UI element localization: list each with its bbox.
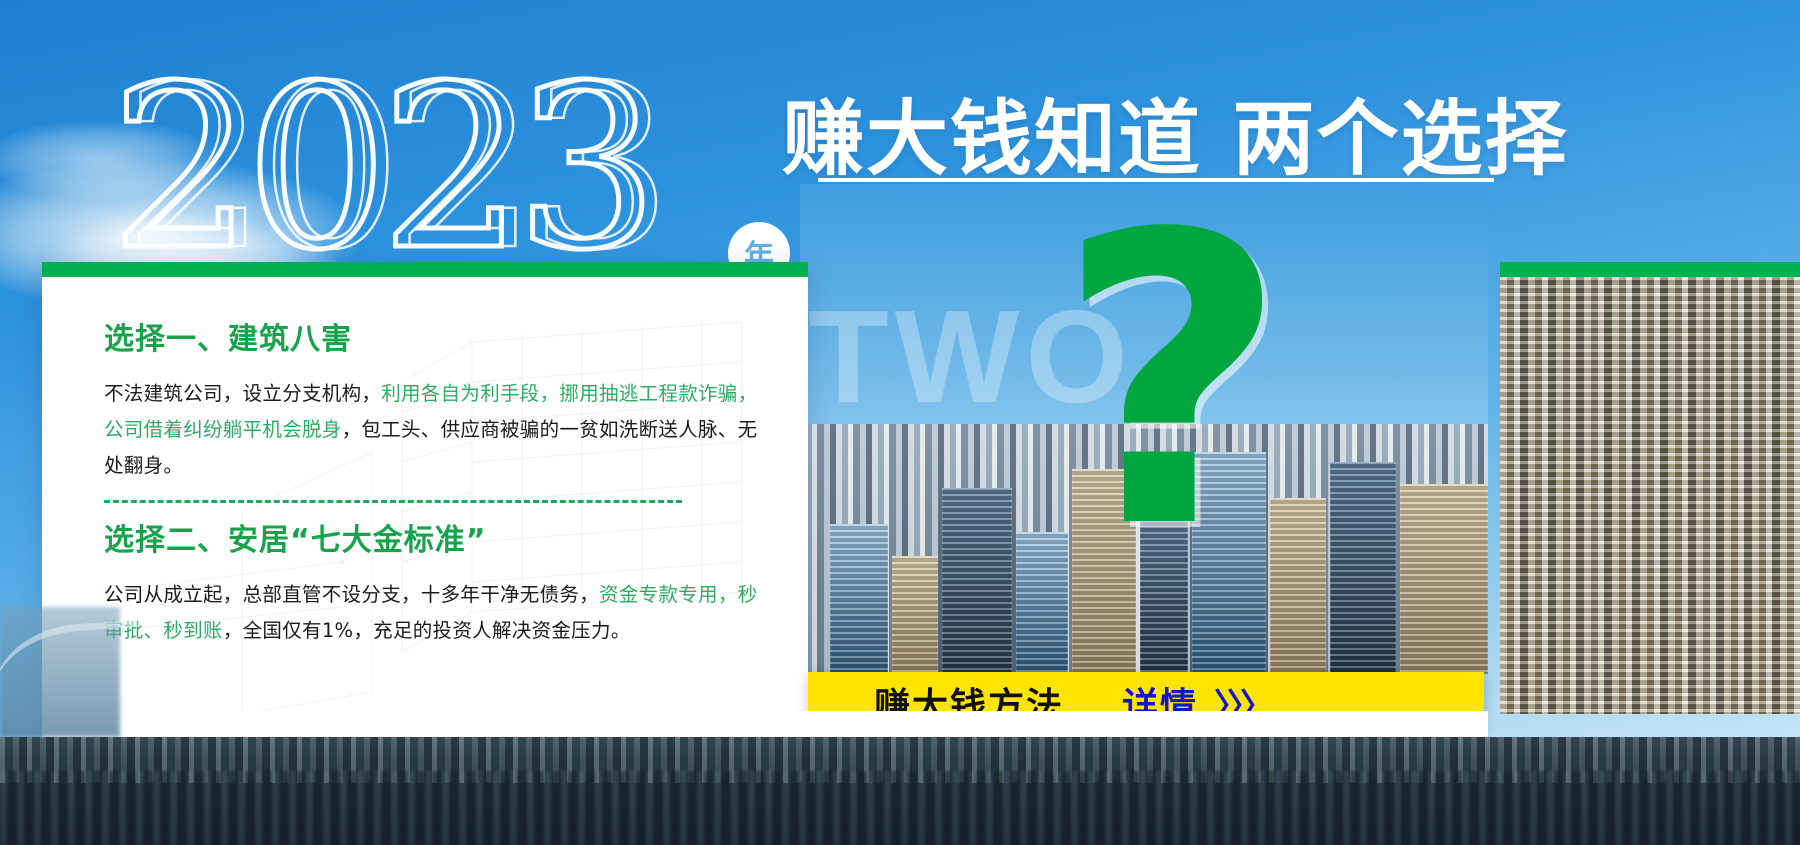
card-base-strip bbox=[42, 711, 1488, 737]
green-accent-bar bbox=[1500, 262, 1800, 277]
section-two-body: 公司从成立起，总部直管不设分支，十多年干净无债务，资金专款专用，秒审批、秒到账，… bbox=[104, 577, 776, 649]
year-text: 2023 bbox=[110, 62, 730, 277]
section-one-title: 选择一、建筑八害 bbox=[104, 314, 750, 358]
headline-underline bbox=[818, 178, 1494, 182]
section-two-text-a: 公司从成立起，总部直管不设分支，十多年干净无债务， bbox=[104, 583, 599, 606]
choice-illustration-panel: TWO CHOOSE ? bbox=[800, 184, 1488, 674]
promo-banner: 2023 2023 年 赚大钱知道 两个选择 TWO CHOOSE ? bbox=[0, 0, 1800, 845]
section-one-body: 不法建筑公司，设立分支机构，利用各自为利手段，挪用抽逃工程款诈骗，公司借着纠纷躺… bbox=[104, 376, 776, 484]
bottom-city-strip bbox=[0, 737, 1800, 845]
year-graphic: 2023 2023 bbox=[110, 62, 730, 282]
section-two-text-c: ，全国仅有1%，充足的投资人解决资金压力。 bbox=[223, 619, 631, 642]
cloud-decoration bbox=[0, 120, 220, 200]
building-photo-strip bbox=[1500, 277, 1800, 714]
section-two-title: 选择二、安居“七大金标准” bbox=[104, 515, 750, 559]
city-skyline-photo bbox=[800, 424, 1488, 674]
card-content: 选择一、建筑八害 不法建筑公司，设立分支机构，利用各自为利手段，挪用抽逃工程款诈… bbox=[42, 262, 808, 649]
section-one-text-a: 不法建筑公司，设立分支机构， bbox=[104, 382, 381, 405]
year-ghost-outline: 2023 bbox=[124, 62, 665, 277]
content-card: 选择一、建筑八害 不法建筑公司，设立分支机构，利用各自为利手段，挪用抽逃工程款诈… bbox=[42, 262, 808, 714]
section-divider bbox=[104, 500, 682, 503]
page-title: 赚大钱知道 两个选择 bbox=[782, 72, 1569, 191]
